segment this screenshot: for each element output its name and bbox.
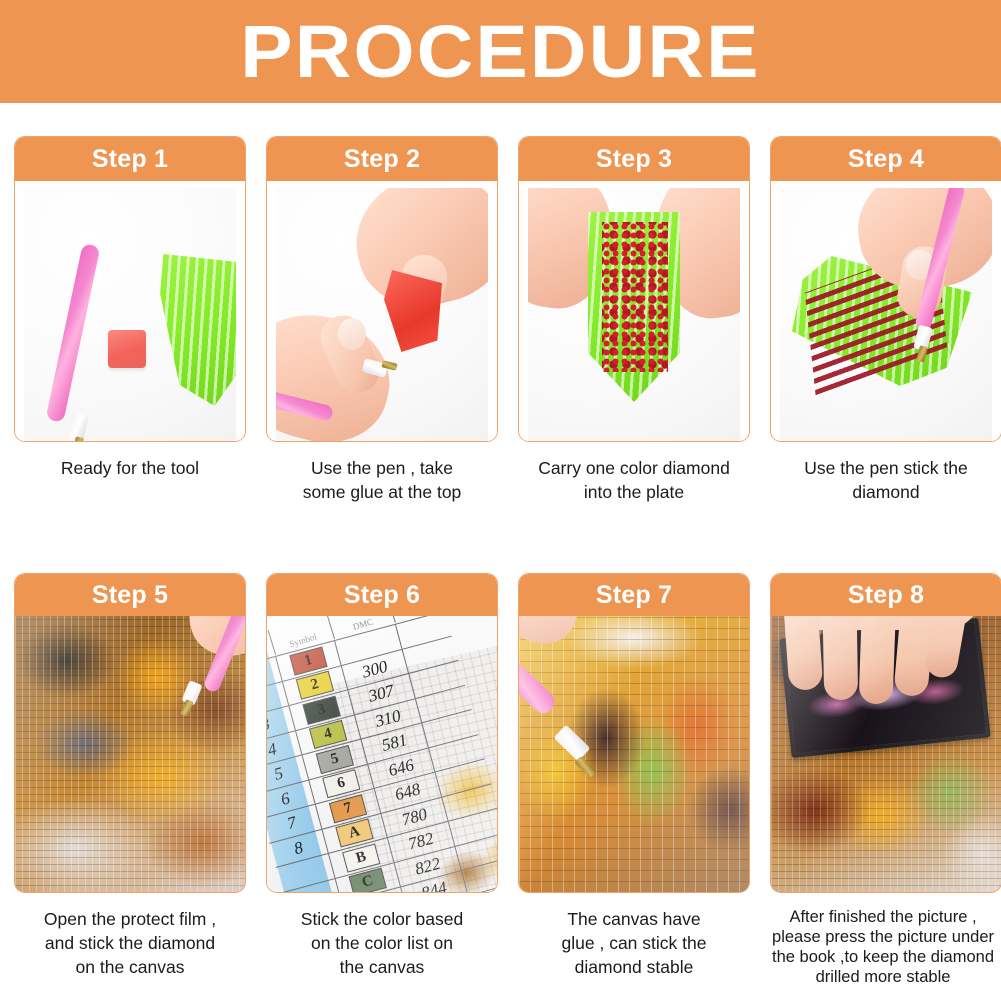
step-item-8: Step 8 After finished	[770, 573, 1001, 987]
step-label-8: Step 8	[848, 583, 924, 608]
step-label-7: Step 7	[596, 583, 672, 608]
step-caption-5: Open the protect film , and stick the di…	[14, 907, 246, 979]
page-title: PROCEDURE	[240, 15, 760, 89]
step-card-4: Step 4	[770, 136, 1001, 442]
mosaic-canvas-photo	[15, 616, 245, 893]
index-nail-icon	[338, 318, 366, 350]
step-image-6: Serial Symbol DMC Color 1122300333074431…	[267, 616, 497, 893]
page-header-banner: PROCEDURE	[0, 0, 1001, 103]
step-item-4: Step 4	[770, 136, 1001, 504]
step-card-6: Step 6 Serial Symbol DMC	[266, 573, 498, 893]
step-label-6: Step 6	[344, 583, 420, 608]
finger-icon	[822, 616, 858, 700]
step-caption-3: Carry one color diamond into the plate	[518, 456, 750, 504]
step-image-8	[771, 616, 1001, 893]
step-image-4	[771, 181, 1001, 442]
step-card-header-1: Step 1	[15, 137, 245, 181]
step-caption-7: The canvas have glue , can stick the dia…	[518, 907, 750, 979]
drills-macro-photo	[519, 616, 749, 893]
step-card-2: Step 2	[266, 136, 498, 442]
pick-diamond-photo	[780, 188, 992, 442]
tools-photo	[24, 188, 236, 442]
step-card-header-2: Step 2	[267, 137, 497, 181]
step-item-6: Step 6 Serial Symbol DMC	[266, 573, 498, 987]
step-card-header-7: Step 7	[519, 574, 749, 616]
step-card-1: Step 1	[14, 136, 246, 442]
color-chart-photo: Serial Symbol DMC Color 1122300333074431…	[267, 616, 497, 893]
step-item-1: Step 1 Ready for the tool	[14, 136, 246, 504]
step-item-5: Step 5 Open the protect film , and stick…	[14, 573, 246, 987]
glue-dipping-photo	[276, 188, 488, 442]
step-card-3: Step 3	[518, 136, 750, 442]
step-caption-6: Stick the color based on the color list …	[266, 907, 498, 979]
step-label-1: Step 1	[92, 147, 168, 172]
steps-row-bottom: Step 5 Open the protect film , and stick…	[0, 573, 1001, 987]
step-item-3: Step 3 Carry one color diamond into the …	[518, 136, 750, 504]
step-label-3: Step 3	[596, 147, 672, 172]
step-card-header-6: Step 6	[267, 574, 497, 616]
step-image-3	[519, 181, 749, 442]
step-card-header-3: Step 3	[519, 137, 749, 181]
step-caption-8: After finished the picture , please pres…	[761, 907, 1001, 987]
step-card-header-5: Step 5	[15, 574, 245, 616]
red-diamond-drills	[602, 222, 668, 372]
step-image-1	[15, 181, 245, 442]
press-book-photo	[771, 616, 1001, 893]
finger-icon	[859, 616, 898, 705]
color-chart-sheet: Serial Symbol DMC Color 1122300333074431…	[267, 616, 497, 893]
step-caption-2: Use the pen , take some glue at the top	[266, 456, 498, 504]
step-image-2	[267, 181, 497, 442]
step-card-8: Step 8	[770, 573, 1001, 893]
step-item-7: Step 7 The canvas have glue , can stick …	[518, 573, 750, 987]
step-card-5: Step 5	[14, 573, 246, 893]
step-caption-4: Use the pen stick the diamond	[770, 456, 1001, 504]
steps-row-top: Step 1 Ready for the tool	[0, 136, 1001, 504]
step-image-5	[15, 616, 245, 893]
step-label-5: Step 5	[92, 583, 168, 608]
step-card-header-8: Step 8	[771, 574, 1001, 616]
step-label-4: Step 4	[848, 147, 924, 172]
step-card-7: Step 7	[518, 573, 750, 893]
tray-with-drills-photo	[528, 188, 740, 442]
colorful-drills-field	[519, 616, 749, 893]
step-caption-1: Ready for the tool	[14, 456, 246, 480]
step-image-7	[519, 616, 749, 893]
step-item-2: Step 2	[266, 136, 498, 504]
step-label-2: Step 2	[344, 147, 420, 172]
procedure-infographic: PROCEDURE Step 1	[0, 0, 1001, 1001]
glue-square-icon	[108, 330, 146, 368]
step-card-header-4: Step 4	[771, 137, 1001, 181]
sunflower-mosaic	[15, 616, 245, 893]
